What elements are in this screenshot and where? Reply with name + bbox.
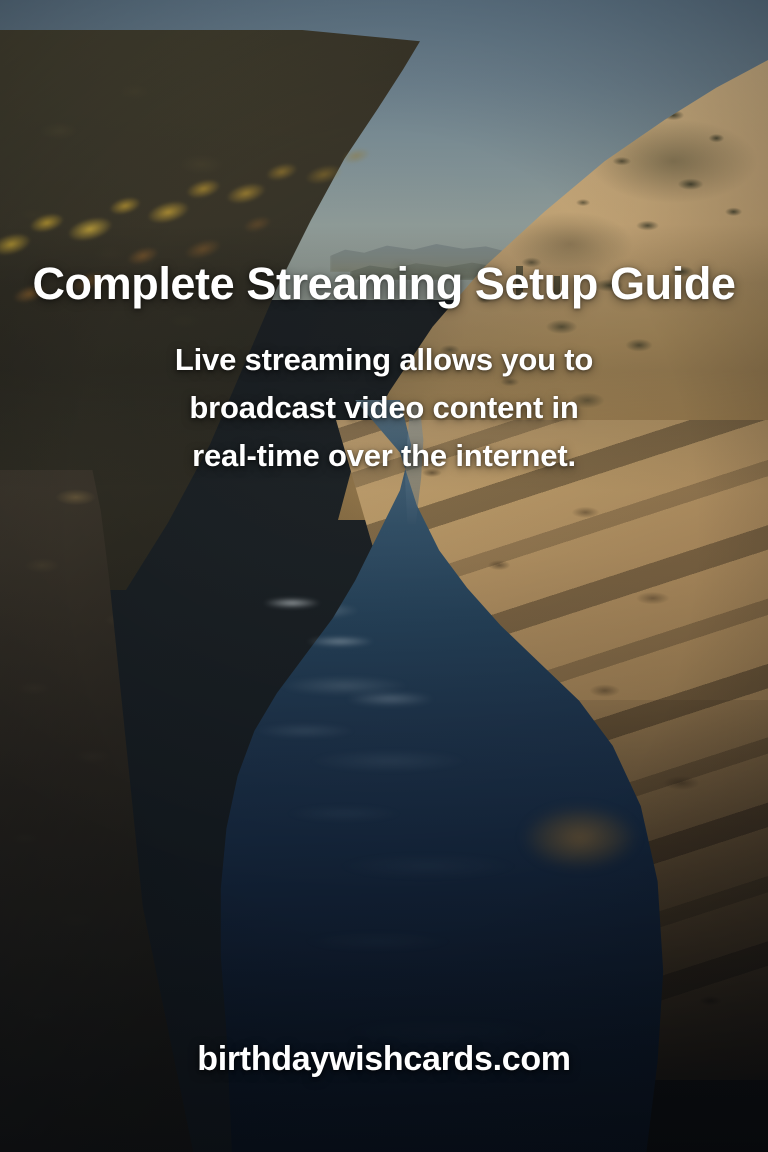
- river-riffle-lower: [330, 690, 450, 708]
- river-riffle-middle: [292, 634, 388, 649]
- subtitle-line-2: broadcast video content in: [104, 384, 664, 432]
- subtitle-line-1: Live streaming allows you to: [104, 336, 664, 384]
- river-riffle-upper: [252, 596, 332, 610]
- poster-subtitle: Live streaming allows you to broadcast v…: [104, 336, 664, 480]
- poster-title: Complete Streaming Setup Guide: [0, 255, 768, 313]
- poster-canvas: Complete Streaming Setup Guide Live stre…: [0, 0, 768, 1152]
- shallow-water-shoal: [505, 795, 655, 880]
- poster-footer-website: birthdaywishcards.com: [0, 1040, 768, 1079]
- subtitle-line-3: real-time over the internet.: [104, 432, 664, 480]
